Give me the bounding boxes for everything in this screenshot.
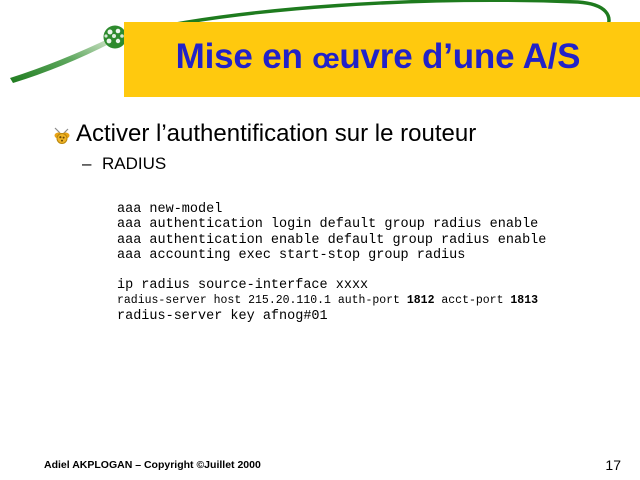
code-line: ip radius source-interface xxxx — [117, 278, 617, 293]
flower-bullet-icon — [52, 125, 72, 149]
title-prefix: Mise en — [176, 37, 313, 76]
bullet-item-label: Activer l’authentification sur le routeu… — [76, 120, 476, 148]
code-block-spacer — [117, 263, 617, 278]
code-line: aaa authentication login default group r… — [117, 217, 617, 232]
slide-body: Activer l’authentification sur le routeu… — [0, 110, 640, 440]
slide-canvas: Mise en œuvre d’une A/S Activer l’authen… — [0, 0, 640, 480]
title-ligature: œ — [312, 43, 339, 75]
page-title: Mise en œuvre d’une A/S — [128, 36, 628, 80]
code-block-group: aaa new-model aaa authentication login d… — [117, 202, 617, 324]
code-acct-port-value: 1813 — [510, 294, 538, 307]
ornament-left-stem — [10, 37, 113, 83]
code-line-radius-server-host: radius-server host 215.20.110.1 auth-por… — [117, 293, 617, 308]
code-segment: radius-server host 215.20.110.1 auth-por… — [117, 294, 407, 307]
code-line: aaa authentication enable default group … — [117, 233, 617, 248]
code-line: aaa new-model — [117, 202, 617, 217]
code-line: aaa accounting exec start-stop group rad… — [117, 248, 617, 263]
code-segment: acct-port — [434, 294, 510, 307]
code-auth-port-value: 1812 — [407, 294, 435, 307]
sub-bullet-dash: – — [82, 154, 102, 174]
sub-bullet-item: – RADIUS — [82, 154, 166, 174]
sub-bullet-label: RADIUS — [102, 154, 166, 174]
bullet-item-main: Activer l’authentification sur le routeu… — [52, 120, 476, 148]
footer-credit: Adiel AKPLOGAN – Copyright ©Juillet 2000 — [44, 459, 261, 471]
page-number: 17 — [605, 457, 621, 473]
code-line: radius-server key afnog#01 — [117, 309, 617, 324]
title-suffix: uvre d’une A/S — [339, 37, 580, 76]
